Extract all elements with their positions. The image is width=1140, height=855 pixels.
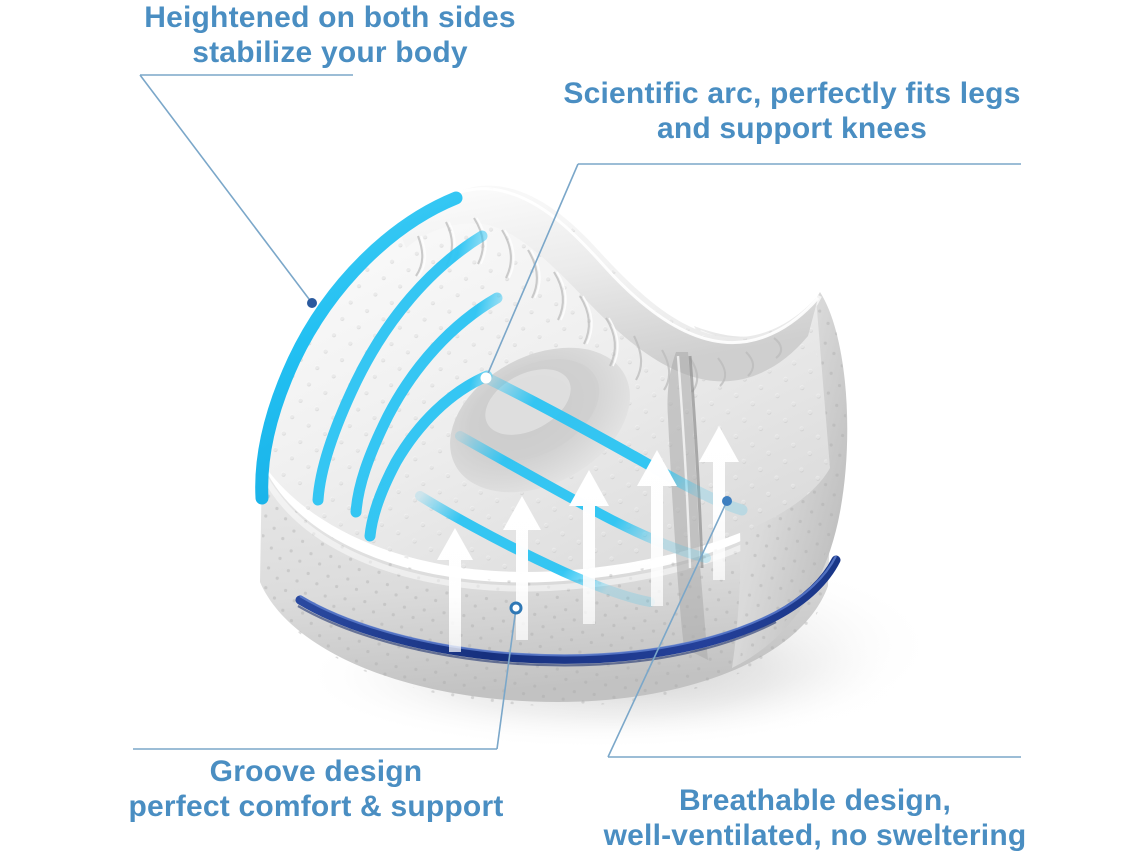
callout-heightened-on-both-sides: Heightened on both sides stabilize your … (130, 0, 530, 71)
leader-dot-heightened (307, 298, 317, 308)
leader-dot-scientific (481, 373, 492, 384)
callout-breathable-design: Breathable design, well-ventilated, no s… (600, 783, 1030, 854)
leader-dot-groove (511, 603, 521, 613)
leader-dot-breathable (722, 496, 732, 506)
callout-scientific-arc: Scientific arc, perfectly fits legs and … (552, 76, 1032, 147)
leader-heightened (140, 75, 353, 308)
product-infographic: Heightened on both sides stabilize your … (0, 0, 1140, 855)
callout-groove-design: Groove design perfect comfort & support (126, 754, 506, 825)
